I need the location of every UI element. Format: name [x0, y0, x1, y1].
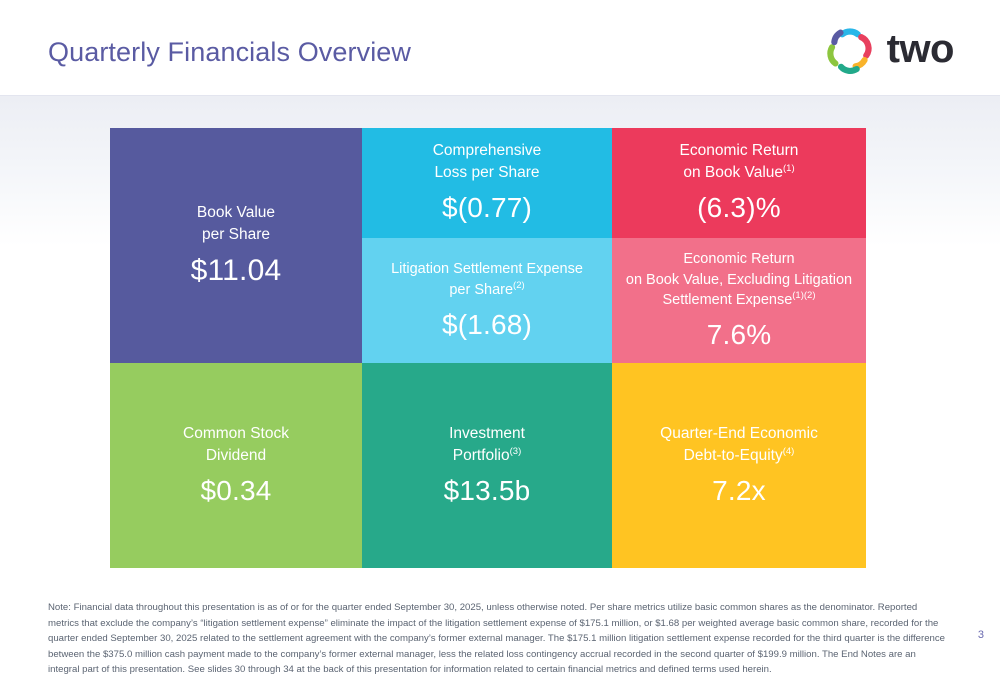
metric-value: 7.2x: [712, 474, 766, 508]
metric-label: Litigation Settlement Expense per Share(…: [391, 259, 583, 300]
metric-tile-investment-portfolio: Investment Portfolio(3) $13.5b: [362, 363, 612, 568]
metric-tile-litigation-settlement-expense-per-share: Litigation Settlement Expense per Share(…: [362, 238, 612, 363]
footnote-marker: (1): [783, 163, 795, 174]
metric-label: Economic Return on Book Value(1): [680, 140, 799, 184]
metrics-grid: Book Value per Share $11.04 Comprehensiv…: [110, 128, 866, 568]
metric-label: Quarter-End Economic Debt-to-Equity(4): [660, 423, 818, 467]
logo-wordmark: two: [887, 29, 954, 72]
footnote-marker: (1)(2): [792, 290, 815, 301]
metric-tile-economic-return-excluding-litigation: Economic Return on Book Value, Excluding…: [612, 238, 866, 363]
slide-header: Quarterly Financials Overview two: [0, 0, 1000, 96]
two-flower-logo-icon: [822, 22, 878, 78]
metric-label: Economic Return on Book Value, Excluding…: [626, 249, 852, 311]
metric-value: $13.5b: [444, 474, 531, 508]
footnote-marker: (4): [783, 446, 795, 457]
page-number: 3: [978, 629, 984, 641]
footnote-marker: (3): [510, 446, 522, 457]
footnote-text: Note: Financial data throughout this pre…: [48, 600, 948, 678]
footnote-marker: (2): [513, 280, 525, 291]
metric-value: $0.34: [200, 474, 271, 508]
metric-label: Common Stock Dividend: [183, 423, 289, 467]
metric-tile-common-stock-dividend: Common Stock Dividend $0.34: [110, 363, 362, 568]
metric-label: Book Value per Share: [197, 202, 275, 246]
metric-tile-economic-return-on-book-value: Economic Return on Book Value(1) (6.3)%: [612, 128, 866, 238]
metric-tile-quarter-end-economic-debt-to-equity: Quarter-End Economic Debt-to-Equity(4) 7…: [612, 363, 866, 568]
metric-value: $(1.68): [442, 308, 532, 342]
page-title: Quarterly Financials Overview: [48, 37, 411, 68]
metric-value: $11.04: [191, 253, 282, 290]
metric-value: 7.6%: [707, 318, 772, 352]
metric-tile-comprehensive-loss-per-share: Comprehensive Loss per Share $(0.77): [362, 128, 612, 238]
brand-logo: two: [822, 22, 954, 78]
metric-value: $(0.77): [442, 191, 532, 225]
metric-label: Investment Portfolio(3): [449, 423, 525, 467]
metric-value: (6.3)%: [697, 191, 781, 225]
metric-label: Comprehensive Loss per Share: [433, 140, 542, 184]
metric-tile-book-value-per-share: Book Value per Share $11.04: [110, 128, 362, 363]
